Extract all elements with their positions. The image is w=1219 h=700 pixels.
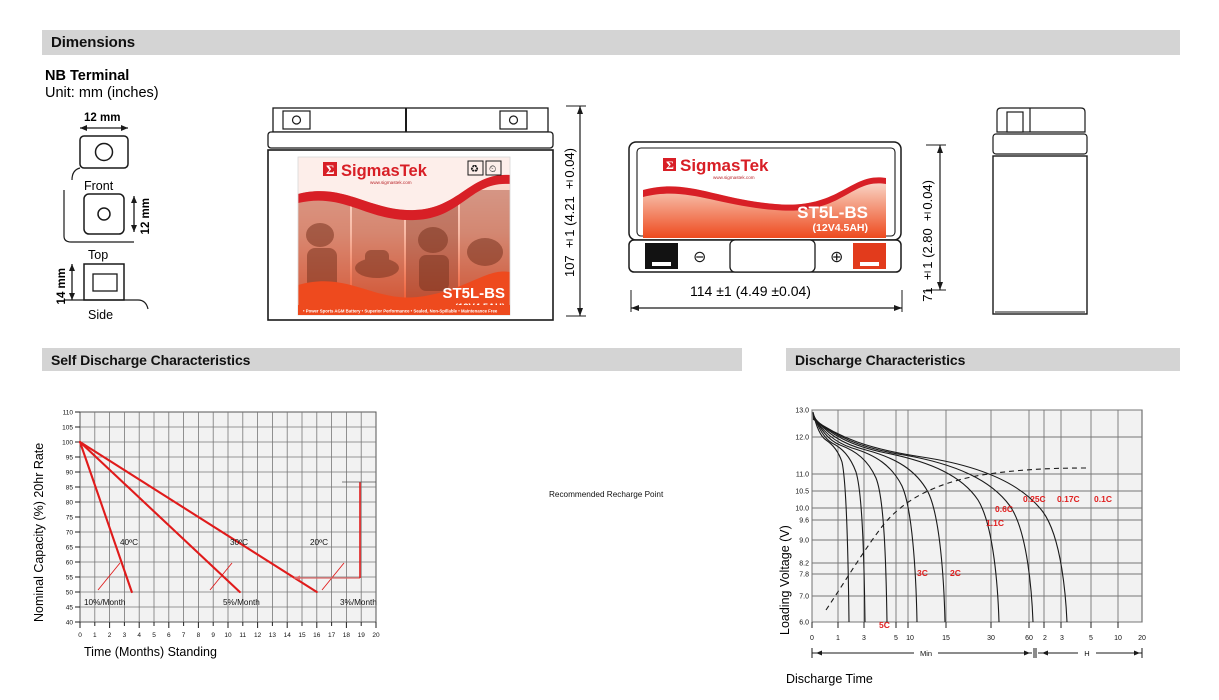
svg-text:19: 19 (358, 632, 366, 639)
battery-width-dim: 114 ±1 (4.49 ±0.04) (690, 283, 811, 299)
svg-text:SigmasTek: SigmasTek (680, 156, 769, 175)
svg-text:www.sigmastek.com: www.sigmastek.com (370, 180, 412, 185)
svg-text:55: 55 (66, 575, 74, 582)
svg-text:9.6: 9.6 (799, 518, 809, 525)
svg-text:7.0: 7.0 (799, 594, 809, 601)
svg-text:⊕: ⊕ (830, 249, 843, 266)
section-header-self-discharge-label: Self Discharge Characteristics (51, 352, 250, 368)
section-header-discharge-label: Discharge Characteristics (795, 352, 965, 368)
annotation-recharge-point: Recommended Recharge Point (549, 490, 663, 499)
svg-text:10: 10 (224, 632, 232, 639)
terminal-width-dim: 12 mm (84, 112, 120, 124)
svg-text:12: 12 (254, 632, 262, 639)
svg-text:13: 13 (269, 632, 277, 639)
view-label-top: Top (88, 248, 108, 262)
annotation-rate-5pct: 5%/Month (223, 598, 260, 607)
svg-text:ST5L-BS: ST5L-BS (442, 285, 505, 302)
svg-text:12.0: 12.0 (795, 435, 809, 442)
annotation-temp-20c: 20ºC (310, 538, 328, 547)
svg-text:11.0: 11.0 (796, 472, 809, 479)
self-discharge-y-axis-title: Nominal Capacity (%) 20hr Rate (32, 432, 46, 622)
svg-text:0: 0 (78, 632, 82, 639)
svg-text:♻: ♻ (470, 164, 479, 175)
curve-label-3c: 3C (917, 568, 928, 578)
svg-text:60: 60 (66, 560, 74, 567)
self-discharge-chart: 110 105 100 95 90 85 80 75 70 65 60 55 5… (42, 400, 742, 665)
svg-text:80: 80 (66, 500, 74, 507)
svg-text:5: 5 (1089, 635, 1093, 642)
svg-text:20: 20 (372, 632, 380, 639)
svg-text:15: 15 (942, 635, 950, 642)
svg-text:9.0: 9.0 (799, 538, 809, 545)
annotation-rate-10pct: 10%/Month (84, 598, 125, 607)
section-header-discharge: Discharge Characteristics (786, 348, 1180, 371)
svg-text:2: 2 (108, 632, 112, 639)
svg-text:14: 14 (284, 632, 292, 639)
svg-text:30: 30 (987, 635, 995, 642)
svg-text:7: 7 (182, 632, 186, 639)
svg-text:16: 16 (313, 632, 321, 639)
svg-text:10: 10 (1114, 635, 1122, 642)
svg-text:(12V4.5AH): (12V4.5AH) (813, 222, 868, 234)
svg-text:4: 4 (137, 632, 141, 639)
annotation-rate-3pct: 3%/Month (340, 598, 377, 607)
svg-text:3: 3 (123, 632, 127, 639)
svg-text:11: 11 (239, 632, 246, 639)
svg-text:90: 90 (66, 470, 74, 477)
svg-text:SigmasTek: SigmasTek (341, 162, 428, 180)
battery-front-view: Σ SigmasTek www.sigmastek.com ST5L-BS (1… (625, 138, 910, 283)
svg-text:100: 100 (62, 440, 73, 447)
svg-text:95: 95 (66, 455, 74, 462)
svg-text:10: 10 (906, 635, 914, 642)
svg-text:6.0: 6.0 (799, 620, 809, 627)
curve-label-1-1c: 1.1C (986, 518, 1004, 528)
svg-text:H: H (1084, 649, 1089, 658)
svg-text:5: 5 (152, 632, 156, 639)
terminal-top-height-dim: 12 mm (140, 198, 152, 234)
nb-terminal-title: NB Terminal (45, 68, 129, 84)
discharge-chart: 13.0 12.0 11.0 10.5 10.0 9.6 9.0 8.2 7.8… (786, 400, 1180, 685)
svg-text:• Power Sports AGM Battery •: • Power Sports AGM Battery • Superior Pe… (303, 309, 498, 314)
section-header-self-discharge: Self Discharge Characteristics (42, 348, 742, 371)
svg-text:3: 3 (1060, 635, 1064, 642)
curve-label-0-6c: 0.6C (995, 504, 1013, 514)
svg-text:40: 40 (66, 620, 74, 627)
svg-text:50: 50 (66, 590, 74, 597)
svg-text:85: 85 (66, 485, 74, 492)
svg-text:10.0: 10.0 (795, 506, 809, 513)
annotation-temp-40c: 40ºC (120, 538, 138, 547)
svg-text:10.5: 10.5 (795, 489, 809, 496)
svg-text:18: 18 (343, 632, 351, 639)
svg-text:70: 70 (66, 530, 74, 537)
svg-text:Min: Min (920, 649, 932, 658)
view-label-front: Front (84, 179, 113, 193)
svg-text:65: 65 (66, 545, 74, 552)
svg-text:20: 20 (1138, 635, 1146, 642)
section-header-dimensions: Dimensions (42, 30, 1180, 55)
unit-label: Unit: mm (inches) (45, 85, 159, 101)
svg-text:8: 8 (197, 632, 201, 639)
terminal-side-height-dim: 14 mm (56, 268, 68, 304)
curve-label-2c: 2C (950, 568, 961, 578)
view-label-side: Side (88, 308, 113, 322)
self-discharge-x-axis-title: Time (Months) Standing (84, 645, 217, 659)
annotation-temp-30c: 30ºC (230, 538, 248, 547)
battery-side-view: Σ SigmasTek www.sigmastek.com ♻ ⏲ ST5L-B… (265, 100, 565, 330)
svg-text:5: 5 (894, 635, 898, 642)
svg-text:⊖: ⊖ (693, 249, 706, 266)
svg-text:8.2: 8.2 (799, 561, 809, 568)
svg-text:60: 60 (1025, 635, 1033, 642)
svg-text:Σ: Σ (326, 162, 335, 177)
datasheet-page: Dimensions NB Terminal Unit: mm (inches) (0, 0, 1219, 700)
curve-label-5c: 5C (879, 620, 890, 630)
curve-label-0-1c: 0.1C (1094, 494, 1112, 504)
curve-label-0-25c: 0.25C (1023, 494, 1046, 504)
battery-depth-dim: 71 ±1 (2.80 ±0.04) (920, 180, 935, 302)
svg-text:17: 17 (328, 632, 336, 639)
discharge-y-axis-title: Loading Voltage (V) (778, 515, 792, 635)
battery-profile-view (975, 100, 1095, 327)
svg-text:Σ: Σ (666, 158, 674, 172)
discharge-x-axis-title: Discharge Time (786, 672, 873, 686)
curve-label-0-17c: 0.17C (1057, 494, 1080, 504)
svg-text:ST5L-BS: ST5L-BS (797, 203, 868, 222)
svg-text:75: 75 (66, 515, 74, 522)
battery-height-dim: 107 ±1 (4.21 ±0.04) (562, 148, 577, 277)
svg-text:0: 0 (810, 635, 814, 642)
svg-text:2: 2 (1043, 635, 1047, 642)
svg-text:www.sigmastek.com: www.sigmastek.com (713, 175, 755, 180)
svg-text:⏲: ⏲ (489, 164, 497, 175)
section-header-dimensions-label: Dimensions (51, 34, 135, 51)
svg-text:1: 1 (93, 632, 97, 639)
svg-text:3: 3 (862, 635, 866, 642)
svg-text:7.8: 7.8 (799, 572, 809, 579)
svg-text:1: 1 (836, 635, 840, 642)
svg-text:13.0: 13.0 (795, 408, 809, 415)
svg-text:9: 9 (211, 632, 215, 639)
svg-text:45: 45 (66, 605, 74, 612)
svg-text:105: 105 (62, 425, 73, 432)
svg-text:6: 6 (167, 632, 171, 639)
svg-text:110: 110 (63, 410, 74, 417)
svg-text:15: 15 (298, 632, 306, 639)
